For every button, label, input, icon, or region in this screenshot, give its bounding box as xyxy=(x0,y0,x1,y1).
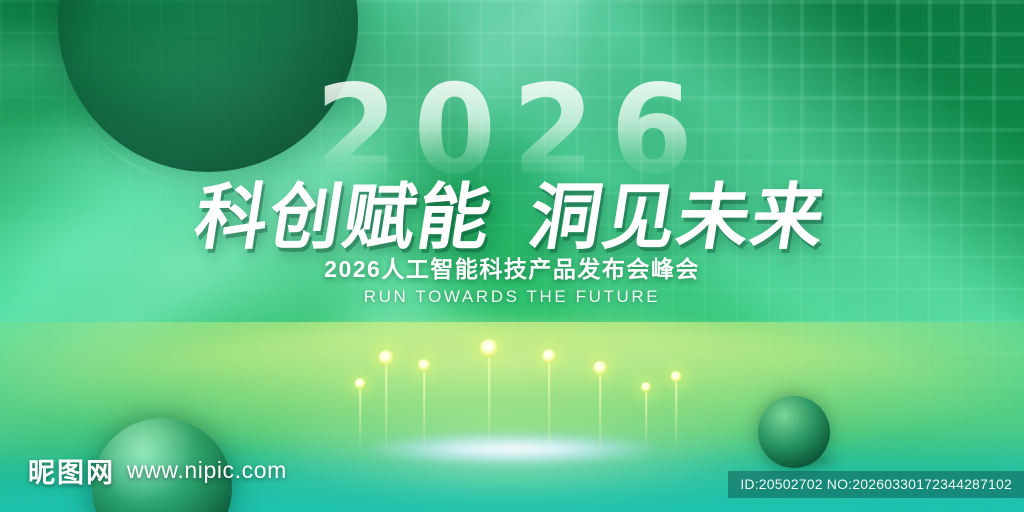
glowing-dot-bulb xyxy=(593,361,607,375)
sphere-bottom-left-highlight xyxy=(92,418,232,512)
dark-sphere-top-left xyxy=(58,0,358,172)
subtitle-english: RUN TOWARDS THE FUTURE xyxy=(0,287,1024,307)
glowing-dot-stem xyxy=(488,357,490,461)
light-streak-top-right xyxy=(394,0,1024,512)
glowing-dot xyxy=(418,359,430,455)
glowing-dot-stem xyxy=(599,375,601,461)
floor-light-pool xyxy=(362,432,662,466)
glowing-dot xyxy=(542,349,556,459)
glowing-dot xyxy=(355,378,366,451)
curved-ribbon-2 xyxy=(0,0,696,512)
glowing-dot-bulb xyxy=(542,349,556,363)
glowing-dot-stem xyxy=(645,392,647,452)
glowing-dot xyxy=(379,350,394,457)
glowing-dot xyxy=(480,339,498,461)
dark-sphere-top-left-rim xyxy=(48,0,372,186)
glowing-dot-stem xyxy=(548,363,550,459)
glowing-dot-bulb xyxy=(480,339,498,357)
headline: 科创赋能洞见未来 xyxy=(0,158,1024,263)
light-streak-top-left xyxy=(0,0,605,512)
light-streak-top-right-secondary xyxy=(464,0,1024,512)
light-streak-top-left-secondary xyxy=(0,0,580,512)
headline-part-1: 科创赋能 xyxy=(189,178,498,258)
curved-ribbon-3 xyxy=(0,120,720,512)
poster-canvas: 2026 科创赋能洞见未来 2026人工智能科技产品发布会峰会 RUN TOWA… xyxy=(0,0,1024,512)
sphere-right-shadow xyxy=(762,452,846,468)
glowing-dot xyxy=(641,382,651,452)
glowing-dot-stem xyxy=(675,382,677,452)
sphere-bottom-left xyxy=(92,418,232,512)
glowing-dot-bulb xyxy=(355,378,366,389)
glowing-dot xyxy=(671,371,682,452)
glowing-dot-stem xyxy=(423,371,425,455)
glowing-dot-bulb xyxy=(379,350,394,365)
watermark-brand-cn: 昵图网 xyxy=(28,451,115,490)
asset-id-badge: ID:20502702 NO:20260330172344287102 xyxy=(728,471,1024,498)
site-watermark: 昵图网 www.nipic.com xyxy=(28,451,287,490)
glowing-dot-bulb xyxy=(418,359,430,371)
year-watermark: 2026 xyxy=(0,69,1024,192)
grid-pattern-left xyxy=(0,0,1024,512)
curved-ribbon-4 xyxy=(440,0,1024,512)
glowing-dot-bulb xyxy=(641,382,651,392)
grid-pattern-right xyxy=(0,0,1024,512)
headline-part-2: 洞见未来 xyxy=(523,178,832,258)
background-gradient xyxy=(0,0,1024,512)
floor-hill-glow xyxy=(0,326,1024,476)
subtitle-chinese: 2026人工智能科技产品发布会峰会 xyxy=(0,250,1024,284)
curved-ribbon-1 xyxy=(0,0,627,512)
sphere-bottom-right xyxy=(758,396,830,468)
watermark-url: www.nipic.com xyxy=(127,457,287,484)
glowing-dot xyxy=(593,361,607,461)
glowing-dot-stem xyxy=(359,389,361,451)
floor-pool-glow xyxy=(232,410,792,500)
glowing-dot-stem xyxy=(385,365,387,457)
glowing-dot-bulb xyxy=(671,371,682,382)
